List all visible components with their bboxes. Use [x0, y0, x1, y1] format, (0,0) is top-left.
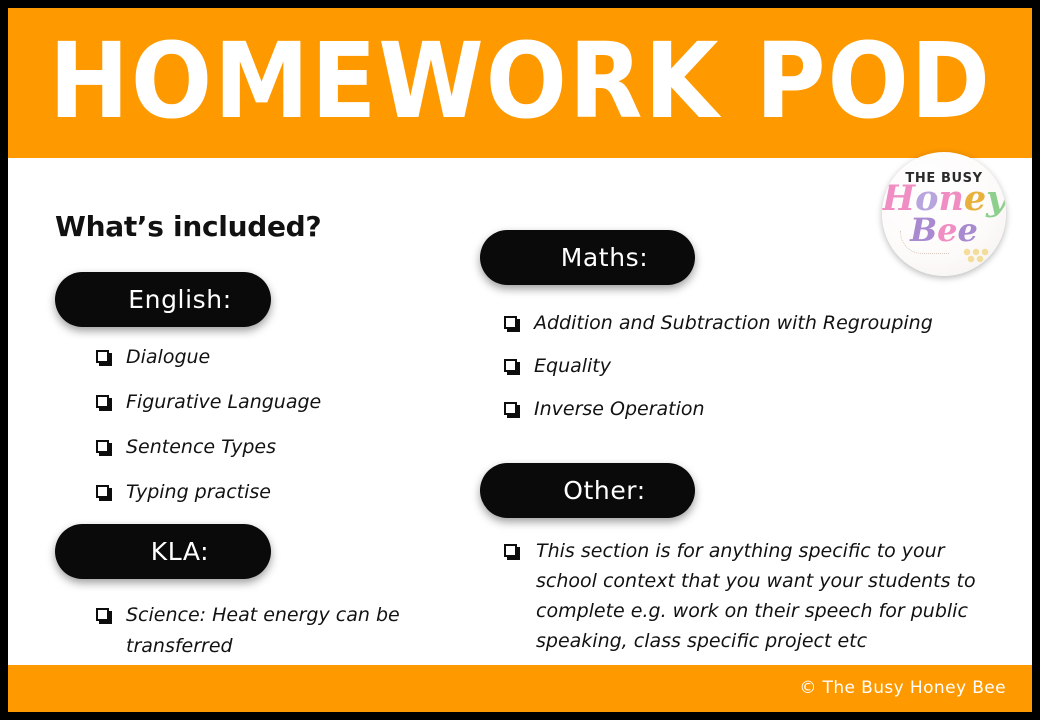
section-label-english: English:	[55, 272, 271, 327]
section-header-kla: KLA:	[55, 524, 271, 579]
checklist-other: This section is for anything specific to…	[504, 536, 1004, 656]
list-item[interactable]: Typing practise	[96, 477, 426, 508]
list-item[interactable]: Addition and Subtraction with Regrouping	[504, 308, 934, 339]
checkbox-icon[interactable]	[504, 402, 517, 415]
checklist-maths: Addition and Subtraction with Regrouping…	[504, 308, 934, 437]
header-band: HOMEWORK POD	[8, 8, 1032, 158]
list-item-label: Science: Heat energy can be transferred	[126, 600, 496, 662]
checkbox-icon[interactable]	[96, 350, 109, 363]
list-item[interactable]: Inverse Operation	[504, 394, 934, 425]
section-label-kla: KLA:	[55, 524, 271, 579]
checkbox-icon[interactable]	[96, 485, 109, 498]
list-item[interactable]: Sentence Types	[96, 432, 426, 463]
list-item-label: Equality	[534, 351, 934, 382]
footer-credit: © The Busy Honey Bee	[799, 676, 1006, 700]
content-area: What’s included? English: Dialogue Figur…	[8, 158, 1032, 665]
checkbox-icon[interactable]	[504, 316, 517, 329]
checklist-english: Dialogue Figurative Language Sentence Ty…	[96, 342, 426, 522]
checkbox-icon[interactable]	[96, 395, 109, 408]
section-label-other: Other:	[480, 463, 695, 518]
list-item[interactable]: Figurative Language	[96, 387, 426, 418]
checklist-kla: Science: Heat energy can be transferred	[96, 600, 496, 662]
list-item-label: Addition and Subtraction with Regrouping	[534, 308, 934, 339]
section-header-other: Other:	[480, 463, 695, 518]
list-item-label: Figurative Language	[126, 387, 426, 418]
slide-canvas: HOMEWORK POD THE BUSY Honey Bee What’s i…	[8, 8, 1032, 712]
list-item-label: Typing practise	[126, 477, 426, 508]
slide-frame: HOMEWORK POD THE BUSY Honey Bee What’s i…	[0, 0, 1040, 720]
section-label-maths: Maths:	[480, 230, 695, 285]
section-header-english: English:	[55, 272, 271, 327]
section-header-maths: Maths:	[480, 230, 695, 285]
checkbox-icon[interactable]	[504, 544, 517, 557]
checkbox-icon[interactable]	[96, 440, 109, 453]
list-item[interactable]: Equality	[504, 351, 934, 382]
list-item[interactable]: This section is for anything specific to…	[504, 536, 1004, 656]
list-item[interactable]: Dialogue	[96, 342, 426, 373]
whats-included-heading: What’s included?	[55, 210, 321, 244]
list-item[interactable]: Science: Heat energy can be transferred	[96, 600, 496, 662]
footer-band: © The Busy Honey Bee	[8, 665, 1032, 712]
checkbox-icon[interactable]	[96, 608, 109, 621]
list-item-label: Dialogue	[126, 342, 426, 373]
checkbox-icon[interactable]	[504, 359, 517, 372]
list-item-label: Inverse Operation	[534, 394, 934, 425]
list-item-label: This section is for anything specific to…	[536, 536, 1004, 656]
page-title: HOMEWORK POD	[49, 22, 991, 140]
list-item-label: Sentence Types	[126, 432, 426, 463]
